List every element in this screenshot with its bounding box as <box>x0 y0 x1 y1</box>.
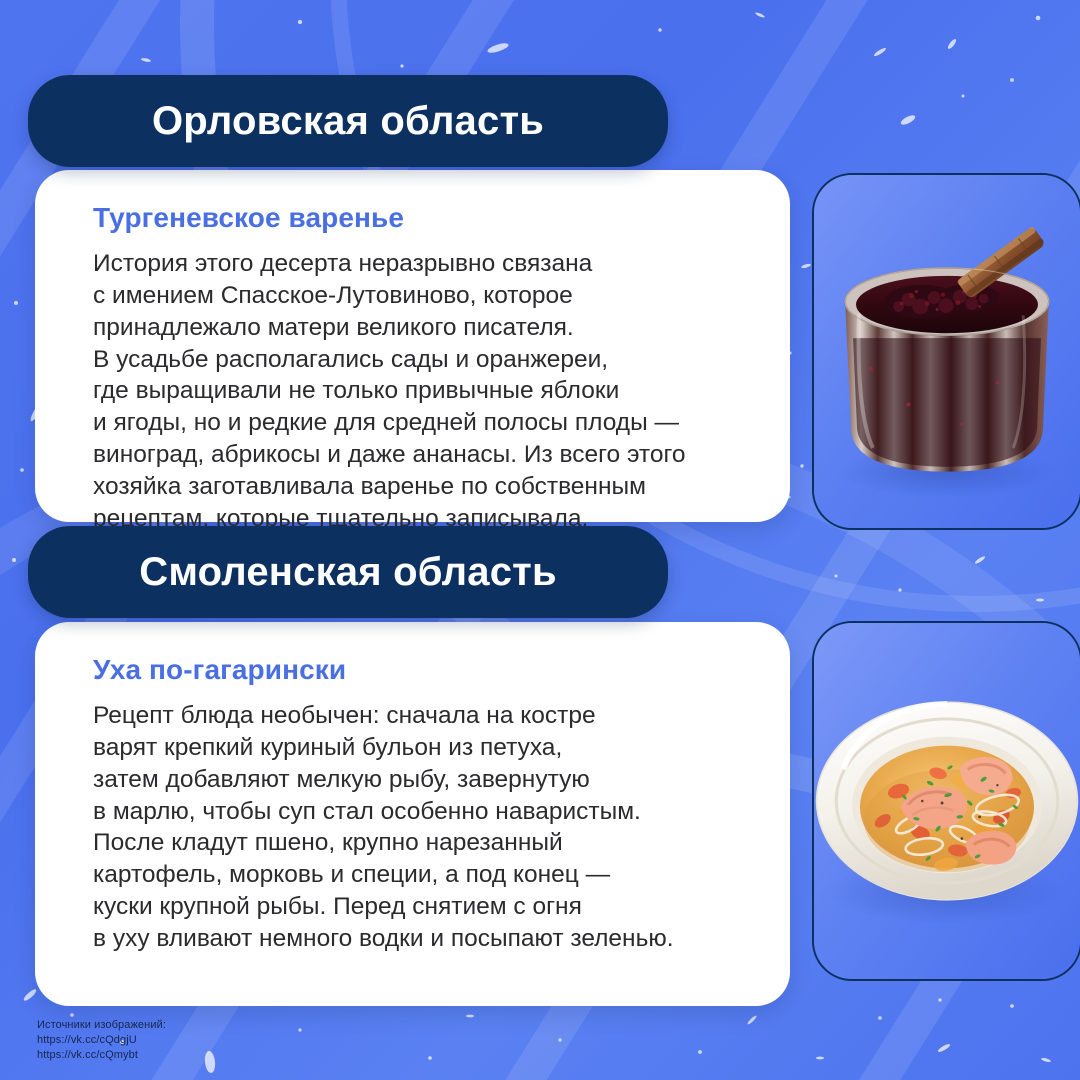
dish-photo-jam <box>812 173 1080 530</box>
dish-description-1: История этого десерта неразрывно связана… <box>93 248 750 535</box>
source-link-2[interactable]: https://vk.cc/cQmybt <box>37 1048 166 1063</box>
image-sources: Источники изображений: https://vk.cc/cQd… <box>37 1018 166 1064</box>
dish-title-2: Уха по-гагарински <box>93 654 750 686</box>
dish-title-1: Тургеневское варенье <box>93 202 750 234</box>
source-link-1[interactable]: https://vk.cc/cQdgjU <box>37 1033 166 1048</box>
region-title-1: Орловская область <box>152 99 544 144</box>
dish-description-2: Рецепт блюда необычен: сначала на костре… <box>93 700 750 955</box>
dish-card-2: Уха по-гагарински Рецепт блюда необычен:… <box>35 622 790 1006</box>
dish-photo-soup <box>812 621 1080 981</box>
region-title-2: Смоленская область <box>139 550 556 595</box>
sources-label: Источники изображений: <box>37 1018 166 1033</box>
region-title-pill-2: Смоленская область <box>28 526 668 618</box>
poster-canvas: Орловская область Тургеневское варенье И… <box>0 0 1080 1080</box>
jam-jar-illustration <box>814 175 1080 528</box>
dish-card-1: Тургеневское варенье История этого десер… <box>35 170 790 522</box>
region-title-pill-1: Орловская область <box>28 75 668 167</box>
fish-soup-illustration <box>814 623 1080 979</box>
